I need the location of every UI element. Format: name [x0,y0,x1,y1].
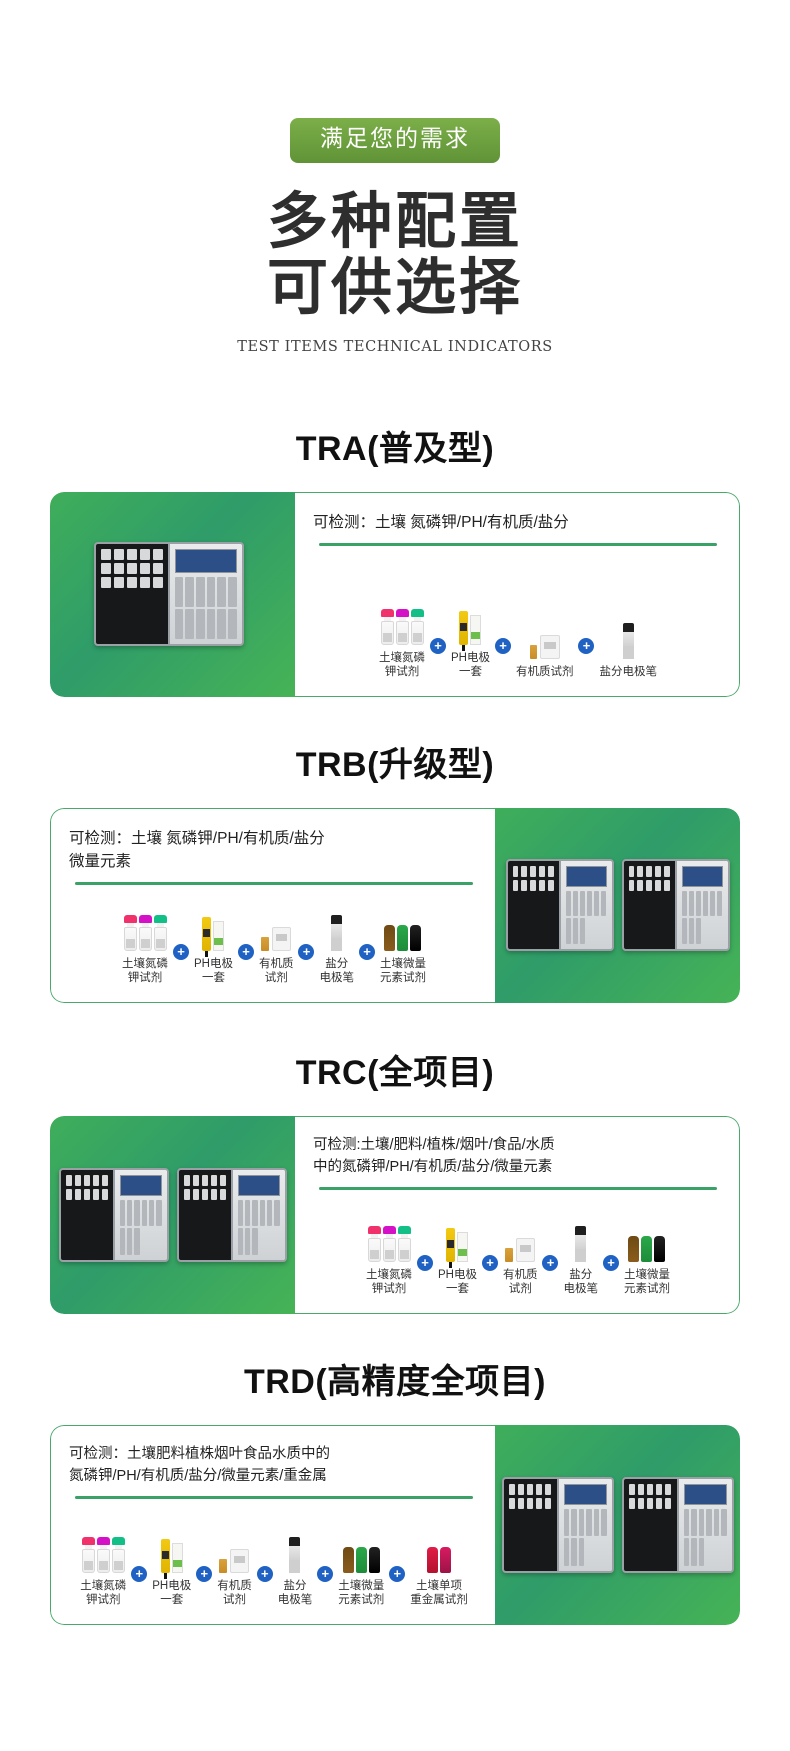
detect-text-trd: 可检测：土壤肥料植株烟叶食品水质中的 氮磷钾/PH/有机质/盐分/微量元素/重金… [69,1444,479,1488]
section-heading-tra: TRA(普及型) [0,421,790,470]
salinity-pen-icon [575,1226,586,1262]
ph-electrode-icon [202,917,224,951]
card-trc: 可检测:土壤/肥料/植株/烟叶/食品/水质 中的氮磷钾/PH/有机质/盐分/微量… [50,1116,740,1314]
list-item: 有机质试剂 [516,635,574,679]
plus-icon: + [417,1255,433,1271]
item-label: 土壤微量 元素试剂 [380,957,426,986]
item-label: 土壤氮磷 钾试剂 [379,651,425,680]
instrument-case-icon [506,859,730,951]
item-label: 盐分电极笔 [599,665,657,679]
item-label: PH电极 一套 [194,957,233,986]
plus-icon: + [542,1255,558,1271]
ph-electrode-icon [446,1228,468,1262]
item-label: 盐分 电极笔 [278,1579,313,1608]
organic-matter-reagent-icon [219,1549,249,1573]
list-item: 有机质 试剂 [259,927,294,986]
reagent-bottles-icon [381,609,424,645]
item-label: 土壤单项 重金属试剂 [410,1579,468,1608]
organic-matter-reagent-icon [530,635,560,659]
instrument-case-icon [502,1477,734,1573]
list-item: 盐分 电极笔 [563,1226,598,1297]
info-pane-trc: 可检测:土壤/肥料/植株/烟叶/食品/水质 中的氮磷钾/PH/有机质/盐分/微量… [295,1116,740,1314]
plus-icon: + [131,1566,147,1582]
trace-element-reagent-icon [384,925,421,951]
reagent-bottles-icon [124,915,167,951]
plus-icon: + [317,1566,333,1582]
reagent-bottles-icon [82,1537,125,1573]
item-label: 土壤氮磷 钾试剂 [122,957,168,986]
list-item: 有机质 试剂 [217,1549,252,1608]
plus-icon: + [298,944,314,960]
item-label: 土壤微量 元素试剂 [338,1579,384,1608]
list-item: 土壤氮磷 钾试剂 [80,1537,126,1608]
list-item: 盐分 电极笔 [319,915,354,986]
item-list-trb: 土壤氮磷 钾试剂 + PH电极 一套 + 有机质 试剂 + [69,885,479,992]
page-title: 多种配置 可供选择 [0,189,790,321]
list-item: PH电极 一套 [152,1539,191,1608]
trace-element-reagent-icon [343,1547,380,1573]
card-trd: 可检测：土壤肥料植株烟叶食品水质中的 氮磷钾/PH/有机质/盐分/微量元素/重金… [50,1425,740,1625]
salinity-pen-icon [331,915,342,951]
ph-electrode-icon [161,1539,183,1573]
plus-icon: + [482,1255,498,1271]
salinity-pen-icon [289,1537,300,1573]
item-list-trc: 土壤氮磷 钾试剂 + PH电极 一套 + 有机质 试剂 + [313,1190,723,1303]
list-item: PH电极 一套 [194,917,233,986]
page-title-line2: 可供选择 [0,255,790,321]
item-label: PH电极 一套 [438,1268,477,1297]
reagent-bottles-icon [368,1226,411,1262]
item-label: 有机质 试剂 [217,1579,252,1608]
detect-text-tra: 可检测：土壤 氮磷钾/PH/有机质/盐分 [313,511,723,534]
section-heading-trb: TRB(升级型) [0,737,790,786]
plus-icon: + [196,1566,212,1582]
section-heading-trd: TRD(高精度全项目) [0,1354,790,1403]
plus-icon: + [603,1255,619,1271]
organic-matter-reagent-icon [261,927,291,951]
info-pane-trd: 可检测：土壤肥料植株烟叶食品水质中的 氮磷钾/PH/有机质/盐分/微量元素/重金… [50,1425,495,1625]
item-list-trd: 土壤氮磷 钾试剂 + PH电极 一套 + 有机质 试剂 + [69,1499,479,1614]
product-photo-tra [50,492,295,697]
section-heading-trc: TRC(全项目) [0,1045,790,1094]
item-label: 盐分 电极笔 [563,1268,598,1297]
list-item: 盐分电极笔 [599,623,657,679]
list-item: PH电极 一套 [451,611,490,680]
plus-icon: + [495,638,511,654]
item-list-tra: 土壤氮磷 钾试剂 + PH电极 一套 + 有机质试剂 + [313,546,723,686]
card-trb: 可检测：土壤 氮磷钾/PH/有机质/盐分 微量元素 土壤氮磷 钾试剂 + [50,808,740,1003]
list-item: 土壤微量 元素试剂 [380,925,426,986]
plus-icon: + [578,638,594,654]
card-tra: 可检测：土壤 氮磷钾/PH/有机质/盐分 土壤氮磷 钾试剂 + [50,492,740,697]
info-pane-trb: 可检测：土壤 氮磷钾/PH/有机质/盐分 微量元素 土壤氮磷 钾试剂 + [50,808,495,1003]
info-pane-tra: 可检测：土壤 氮磷钾/PH/有机质/盐分 土壤氮磷 钾试剂 + [295,492,740,697]
item-label: 土壤氮磷 钾试剂 [366,1268,412,1297]
plus-icon: + [359,944,375,960]
ph-electrode-icon [459,611,481,645]
plus-icon: + [238,944,254,960]
item-label: 盐分 电极笔 [319,957,354,986]
plus-icon: + [173,944,189,960]
instrument-case-icon [94,542,252,646]
item-label: PH电极 一套 [152,1579,191,1608]
list-item: 盐分 电极笔 [278,1537,313,1608]
list-item: 土壤微量 元素试剂 [338,1547,384,1608]
organic-matter-reagent-icon [505,1238,535,1262]
item-label: 土壤微量 元素试剂 [624,1268,670,1297]
item-label: 有机质 试剂 [259,957,294,986]
list-item: 土壤氮磷 钾试剂 [366,1226,412,1297]
hero-badge: 满足您的需求 [290,118,500,163]
instrument-case-icon [59,1168,287,1262]
item-label: PH电极 一套 [451,651,490,680]
detect-text-trc: 可检测:土壤/肥料/植株/烟叶/食品/水质 中的氮磷钾/PH/有机质/盐分/微量… [313,1135,723,1179]
hero-section: 满足您的需求 多种配置 可供选择 TEST ITEMS TECHNICAL IN… [0,0,790,355]
list-item: PH电极 一套 [438,1228,477,1297]
list-item: 土壤氮磷 钾试剂 [379,609,425,680]
detect-text-trb: 可检测：土壤 氮磷钾/PH/有机质/盐分 微量元素 [69,827,479,874]
product-photo-trb [495,808,740,1003]
plus-icon: + [257,1566,273,1582]
list-item: 土壤氮磷 钾试剂 [122,915,168,986]
list-item: 有机质 试剂 [503,1238,538,1297]
item-label: 土壤氮磷 钾试剂 [80,1579,126,1608]
page-title-line1: 多种配置 [0,189,790,255]
heavy-metal-reagent-icon [427,1547,451,1573]
product-photo-trc [50,1116,295,1314]
hero-subtitle: TEST ITEMS TECHNICAL INDICATORS [0,339,790,355]
product-photo-trd [495,1425,740,1625]
list-item: 土壤单项 重金属试剂 [410,1547,468,1608]
item-label: 有机质试剂 [516,665,574,679]
list-item: 土壤微量 元素试剂 [624,1236,670,1297]
plus-icon: + [389,1566,405,1582]
item-label: 有机质 试剂 [503,1268,538,1297]
salinity-pen-icon [623,623,634,659]
product-spec-page: 满足您的需求 多种配置 可供选择 TEST ITEMS TECHNICAL IN… [0,0,790,1751]
trace-element-reagent-icon [628,1236,665,1262]
plus-icon: + [430,638,446,654]
